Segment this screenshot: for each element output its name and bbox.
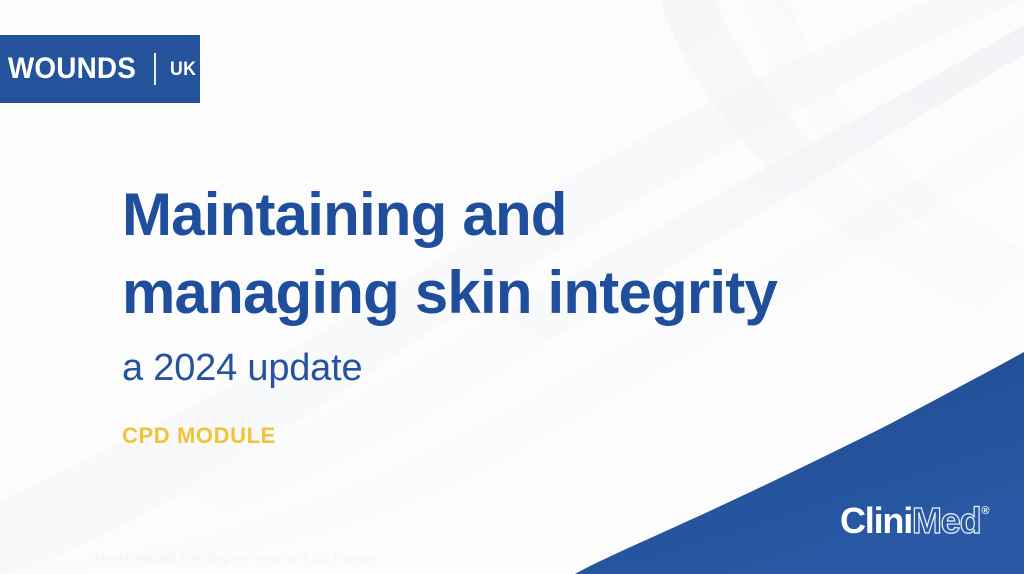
page-subtitle: a 2024 update — [122, 342, 902, 394]
registered-trademark-icon: ® — [981, 506, 989, 517]
wounds-uk-logo: WOUNDS UK — [0, 35, 200, 103]
cpd-module-badge: CPD MODULE — [122, 422, 902, 450]
clinimed-logo: Clini Med ® — [840, 503, 990, 539]
footer-note: Maintaining and managing skin integrity:… — [95, 552, 375, 564]
wounds-uk-logo-region: UK — [170, 60, 196, 79]
wounds-uk-logo-divider — [154, 53, 156, 85]
slide-canvas: WOUNDS UK Maintaining and managing skin … — [0, 0, 1024, 574]
page-title-line-2: managing skin integrity — [122, 254, 902, 332]
clinimed-logo-med: Med — [912, 503, 980, 539]
title-text-block: Maintaining and managing skin integrity … — [122, 176, 902, 450]
wounds-uk-logo-word: WOUNDS — [8, 54, 136, 84]
clinimed-logo-clini: Clini — [840, 503, 912, 539]
page-title-line-1: Maintaining and — [122, 176, 902, 254]
